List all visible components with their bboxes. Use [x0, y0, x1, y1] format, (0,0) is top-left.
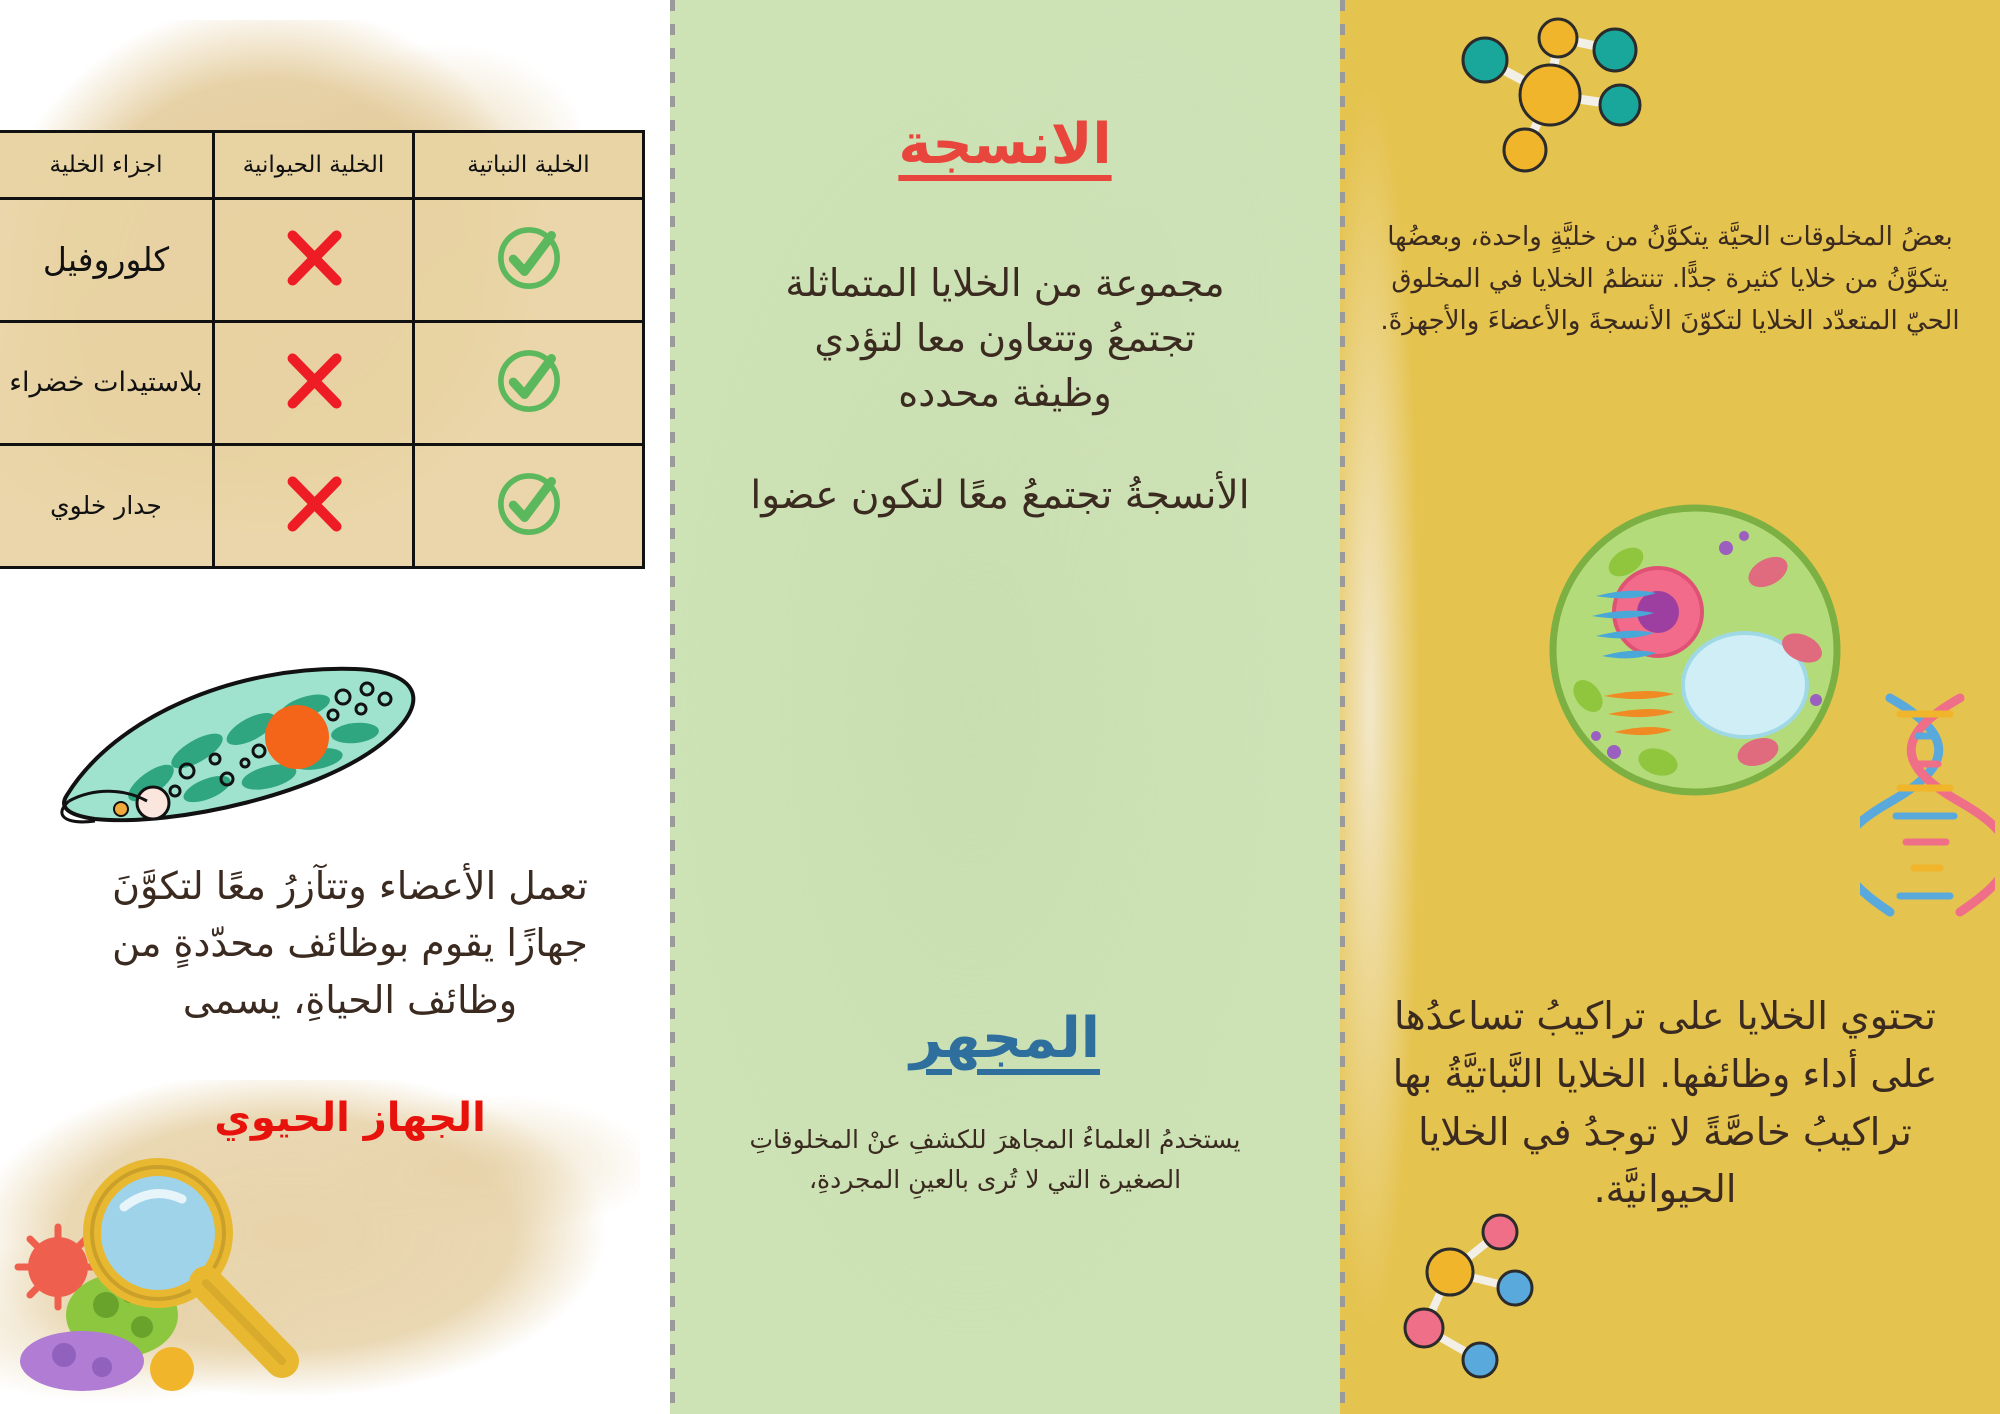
right-panel-paragraph-1: بعضُ المخلوقات الحيَّة يتكوَّنُ من خليَّ… [1380, 216, 1960, 342]
molecule-structure-icon-bottom [1380, 1210, 1580, 1394]
microscope-caption: يستخدمُ العلماءُ المجاهرَ للكشفِ عنْ الم… [710, 1120, 1280, 1200]
check-icon [493, 222, 565, 294]
mid-panel-title: الانسجة [670, 112, 1340, 177]
microscope-section-title: المجهر [810, 1006, 1200, 1071]
header-plant-cell: الخلية النباتية [414, 132, 644, 199]
cell-animal-chloroplast [214, 322, 414, 445]
panel-right-yellow: بعضُ المخلوقات الحيَّة يتكوَّنُ من خليَّ… [1340, 0, 2000, 1414]
cell-part-name: كلوروفيل [0, 199, 214, 322]
separator-right-mid [1340, 0, 1345, 1414]
cell-comparison-table-wrapper: الخلية النباتية الخلية الحيوانية اجزاء ا… [45, 130, 645, 569]
mid-panel-paragraph-1: مجموعة من الخلايا المتماثلة تجتمعُ وتتعا… [770, 256, 1240, 421]
cell-part-name: بلاستيدات خضراء [0, 322, 214, 445]
table-header-row: الخلية النباتية الخلية الحيوانية اجزاء ا… [0, 132, 644, 199]
table-row: بلاستيدات خضراء [0, 322, 644, 445]
panel-middle-green: الانسجة مجموعة من الخلايا المتماثلة تجتم… [670, 0, 1340, 1414]
cell-animal-chlorophyll [214, 199, 414, 322]
euglena-cell-illustration [55, 655, 475, 829]
left-panel-term-highlight: الجهاز الحيوي [70, 1095, 630, 1141]
table-row: كلوروفيل [0, 199, 644, 322]
cross-icon [278, 468, 350, 540]
panel-left-white: الخلية النباتية الخلية الحيوانية اجزاء ا… [0, 0, 670, 1414]
magnifying-glass-with-microbes-illustration [10, 1155, 310, 1399]
cell-plant-chloroplast [414, 322, 644, 445]
dna-double-helix-icon [1860, 690, 1995, 929]
separator-mid-left [670, 0, 675, 1414]
cell-part-name: جدار خلوي [0, 445, 214, 568]
molecule-structure-icon [1440, 10, 1670, 204]
table-row: جدار خلوي [0, 445, 644, 568]
cell-plant-chlorophyll [414, 199, 644, 322]
check-icon [493, 345, 565, 417]
plant-cell-diagram [1530, 500, 1860, 804]
cross-icon [278, 222, 350, 294]
brochure-page: بعضُ المخلوقات الحيَّة يتكوَّنُ من خليَّ… [0, 0, 2000, 1414]
mid-panel-paragraph-2: الأنسجةُ تجتمعُ معًا لتكون عضوا [690, 469, 1310, 524]
check-icon [493, 468, 565, 540]
left-panel-paragraph: تعمل الأعضاء وتتآزرُ معًا لتكوَّنَ جهازً… [70, 858, 630, 1029]
panel-mid-wash [670, 0, 1340, 1414]
cell-comparison-table: الخلية النباتية الخلية الحيوانية اجزاء ا… [0, 130, 645, 569]
cell-animal-cellwall [214, 445, 414, 568]
right-panel-paragraph-2: تحتوي الخلايا على تراكيبُ تساعدُها على أ… [1360, 988, 1970, 1219]
header-animal-cell: الخلية الحيوانية [214, 132, 414, 199]
cell-plant-cellwall [414, 445, 644, 568]
cross-icon [278, 345, 350, 417]
header-cell-parts: اجزاء الخلية [0, 132, 214, 199]
